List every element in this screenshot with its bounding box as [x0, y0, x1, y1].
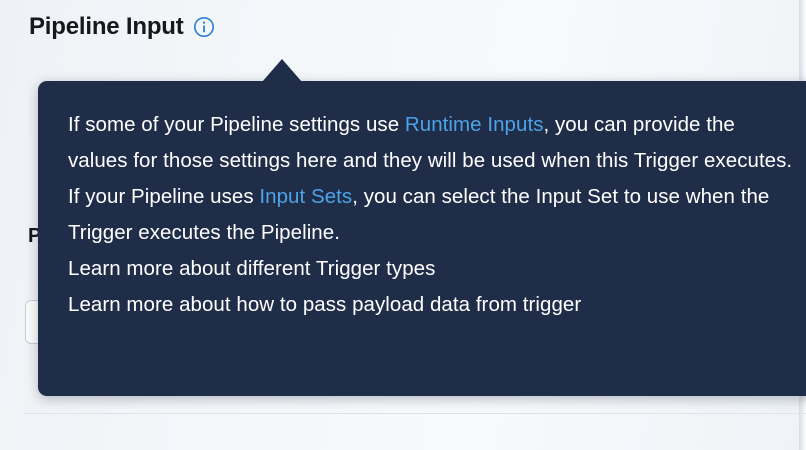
input-sets-link[interactable]: Input Sets	[259, 185, 352, 208]
learn-more-trigger-types-link[interactable]: Learn more about different Trigger types	[68, 251, 435, 287]
tooltip-paragraph-2: If your Pipeline uses Input Sets, you ca…	[68, 179, 798, 251]
tooltip-p1-before-link: If some of your Pipeline settings use	[68, 113, 405, 136]
page-title: Pipeline Input	[29, 12, 215, 42]
runtime-inputs-link[interactable]: Runtime Inputs	[405, 113, 544, 136]
learn-more-payload-data-link[interactable]: Learn more about how to pass payload dat…	[68, 287, 581, 323]
section-divider	[25, 413, 806, 414]
info-circle-icon[interactable]	[193, 16, 215, 38]
tooltip-p2-before-link: If your Pipeline uses	[68, 185, 259, 208]
tooltip-arrow	[262, 59, 302, 82]
pipeline-input-tooltip: If some of your Pipeline settings use Ru…	[38, 81, 806, 396]
tooltip-paragraph-1: If some of your Pipeline settings use Ru…	[68, 107, 798, 179]
page-title-text: Pipeline Input	[29, 12, 184, 42]
